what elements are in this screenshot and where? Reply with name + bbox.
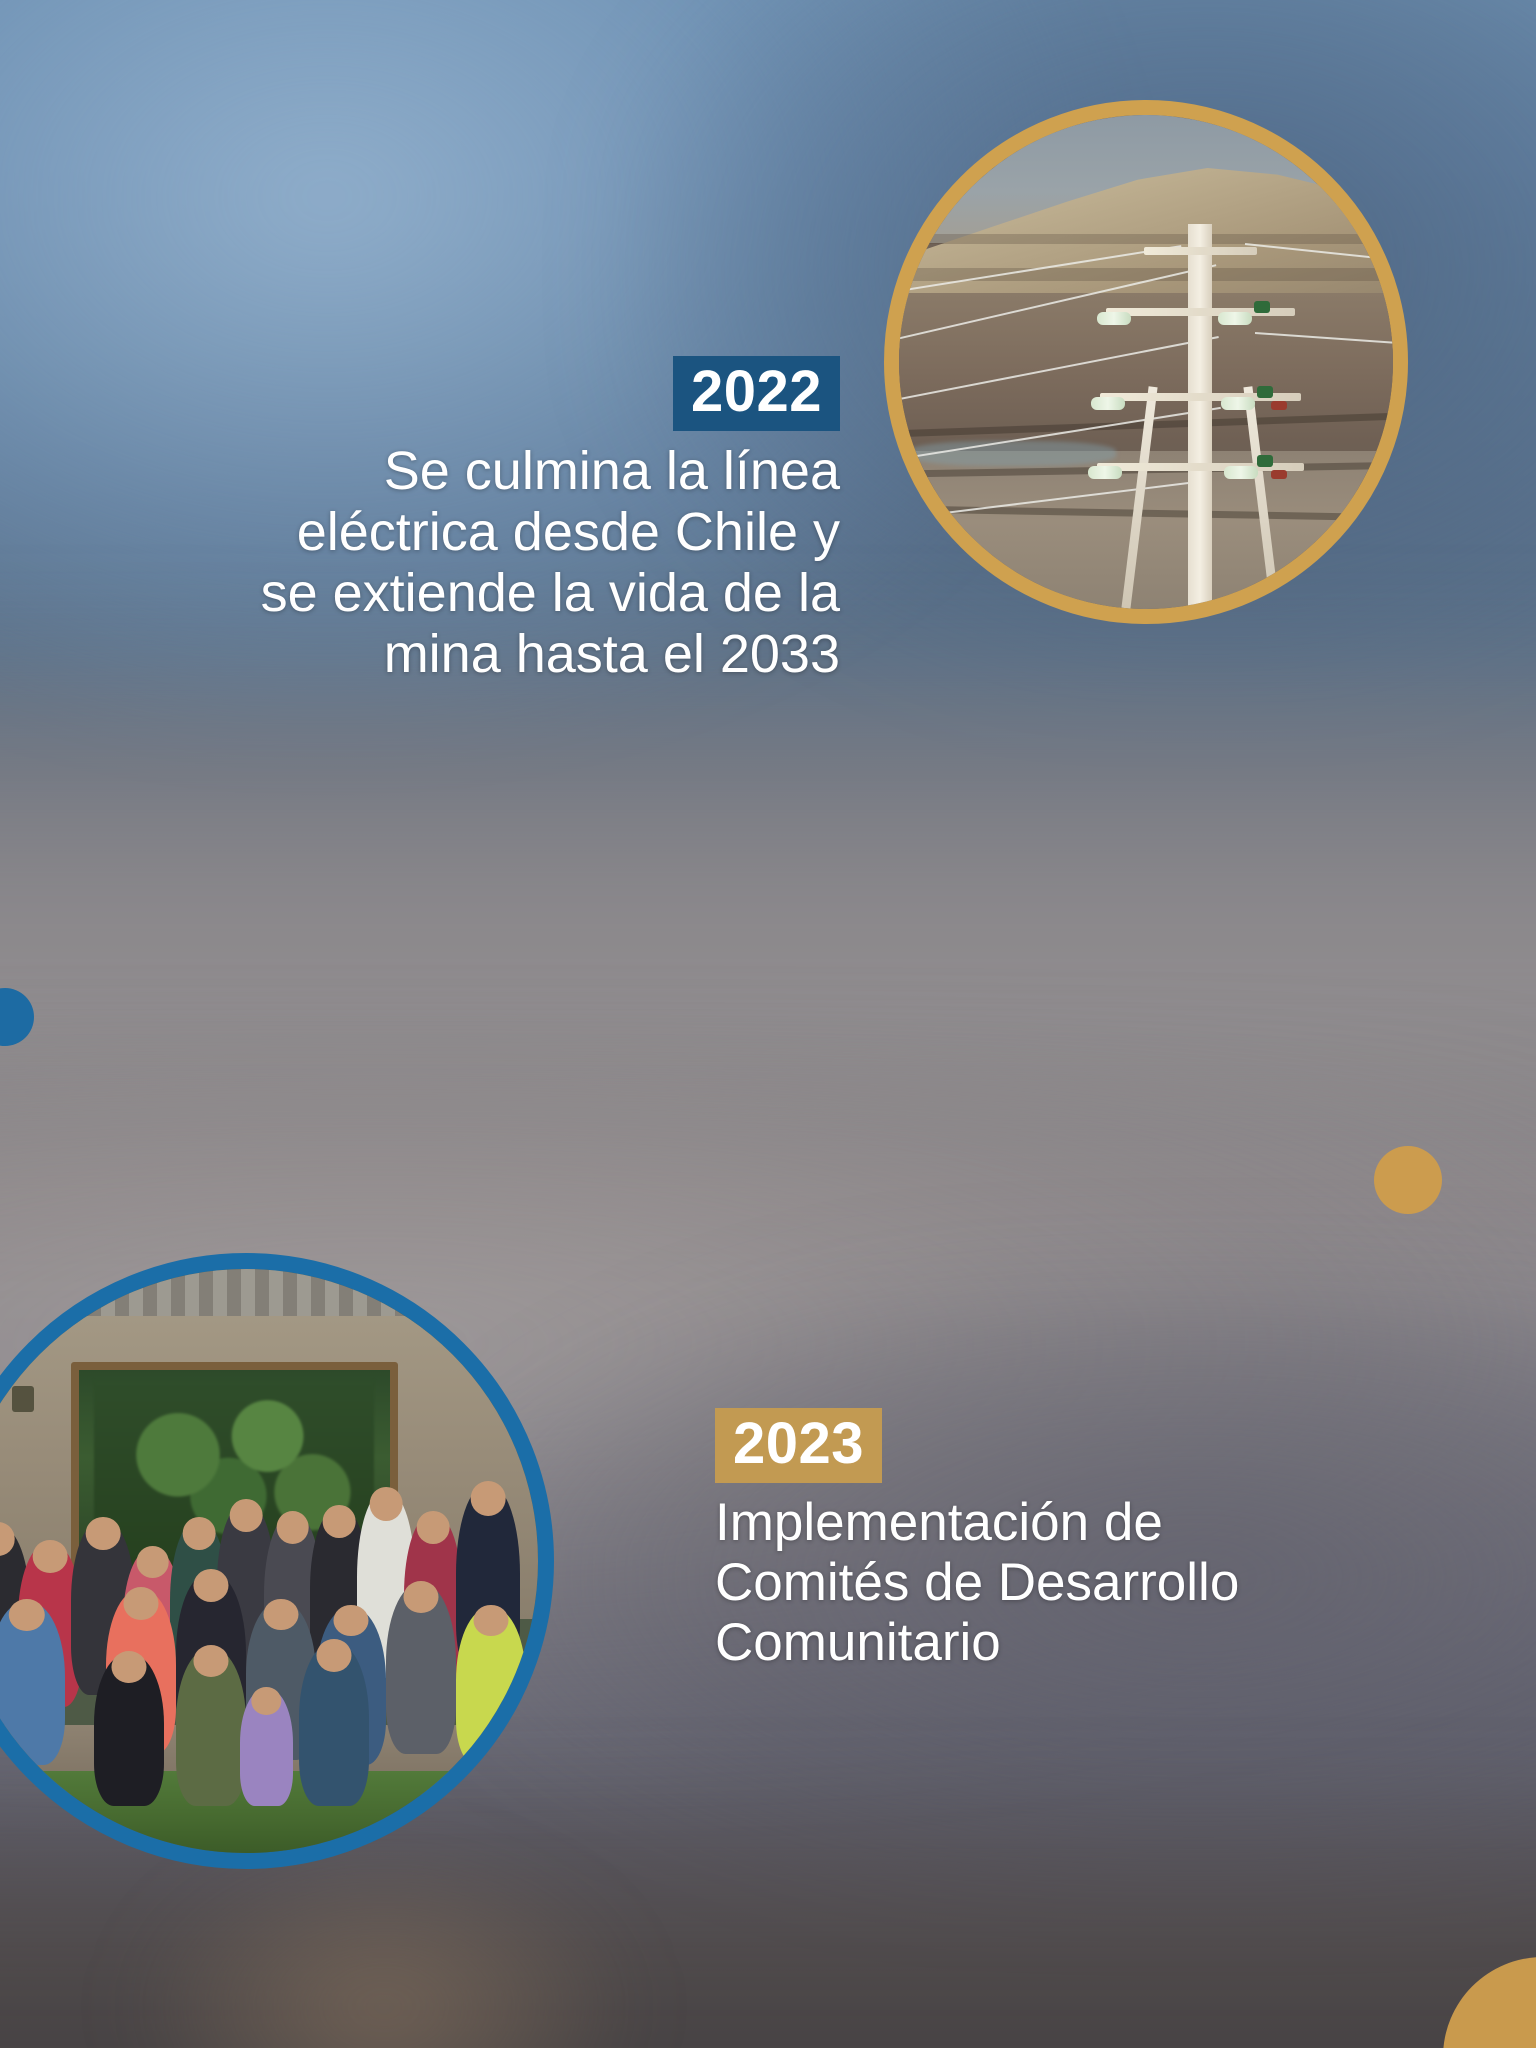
conductor-fitting: [1254, 301, 1270, 313]
insulator-string: [1224, 466, 1258, 479]
conductor-fitting: [1271, 401, 1287, 410]
conductor-fitting: [1271, 470, 1287, 479]
community-group-artwork: [0, 1269, 538, 1853]
conductor-fitting: [1257, 455, 1273, 467]
conductor-fitting: [1257, 386, 1273, 398]
person: [386, 1584, 456, 1753]
insulator-string: [1091, 397, 1125, 410]
mine-pond: [909, 441, 1116, 466]
transmission-tower-photo: [884, 100, 1408, 624]
tower-leg: [1243, 386, 1279, 609]
insulator-string: [1221, 397, 1255, 410]
insulator-string: [1088, 466, 1122, 479]
person: [0, 1602, 65, 1766]
insulator-string: [1218, 312, 1252, 325]
community-group-photo: [0, 1253, 554, 1869]
transmission-tower-artwork: [899, 115, 1393, 609]
lattice-tower: [1126, 224, 1274, 609]
entry-text-2022: Se culmina la línea eléctrica desde Chil…: [60, 441, 840, 685]
tower-mast: [1188, 224, 1212, 609]
person: [176, 1649, 246, 1807]
wall-lamp: [12, 1386, 34, 1412]
insulator-string: [1097, 312, 1131, 325]
decor-dot-gold-right: [1374, 1146, 1442, 1214]
year-badge-2023: 2023: [715, 1408, 882, 1483]
person: [456, 1608, 526, 1766]
person-child: [240, 1689, 293, 1806]
entry-text-2023: Implementación de Comités de Desarrollo …: [715, 1493, 1475, 1673]
timeline-entry-2023: 2023 Implementación de Comités de Desarr…: [715, 1408, 1475, 1673]
person: [299, 1643, 369, 1807]
tower-crossarm: [1144, 247, 1257, 255]
year-badge-2022: 2022: [673, 356, 840, 431]
timeline-page: 2022 Se culmina la línea eléctrica desde…: [0, 0, 1536, 2048]
timeline-entry-2022: 2022 Se culmina la línea eléctrica desde…: [60, 356, 840, 685]
tower-leg: [1122, 386, 1158, 609]
background-haze-bottom-warm: [123, 1843, 645, 2048]
person: [94, 1654, 164, 1806]
